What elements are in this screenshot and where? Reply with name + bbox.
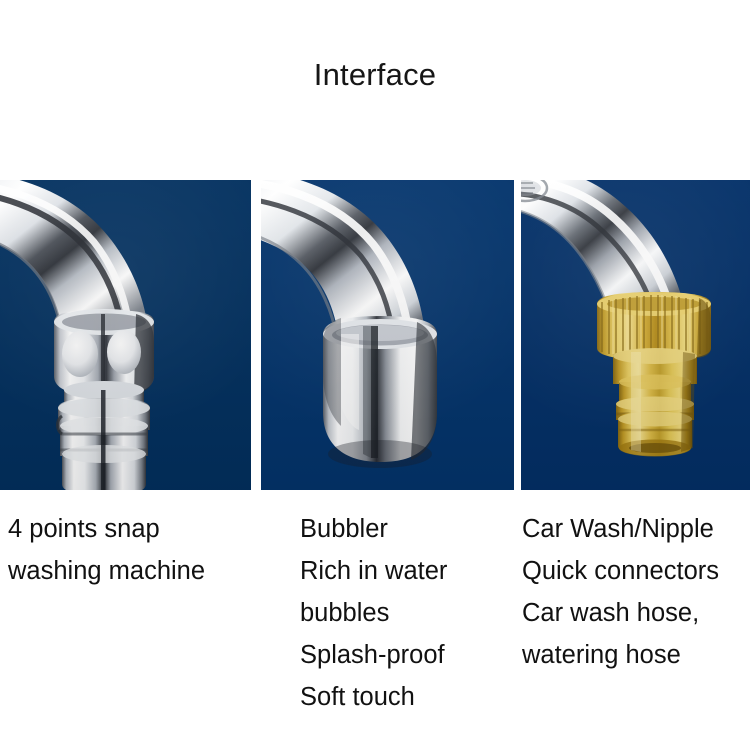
panel-3-caption: Car Wash/Nipple Quick connectors Car was… <box>522 508 719 676</box>
panel-3-image <box>521 180 750 490</box>
product-panel-3 <box>521 180 750 490</box>
product-panel-1 <box>0 180 251 490</box>
caption-line: watering hose <box>522 634 719 676</box>
caption-line: Car Wash/Nipple <box>522 508 719 550</box>
faucet-brass-quick-connector-icon <box>521 180 750 490</box>
caption-line: washing machine <box>8 550 205 592</box>
caption-line: Car wash hose, <box>522 592 719 634</box>
product-panel-2 <box>261 180 514 490</box>
panel-2-caption: Bubbler Rich in water bubbles Splash-pro… <box>300 508 447 718</box>
caption-line: Rich in water <box>300 550 447 592</box>
caption-line: 4 points snap <box>8 508 205 550</box>
panel-2-image <box>261 180 514 490</box>
panel-1-caption: 4 points snap washing machine <box>8 508 205 592</box>
caption-line: Bubbler <box>300 508 447 550</box>
faucet-snap-connector-icon <box>0 180 251 490</box>
panel-1-image <box>0 180 251 490</box>
page-title: Interface <box>0 56 750 94</box>
caption-line: Splash-proof <box>300 634 447 676</box>
product-infographic: Interface <box>0 0 750 750</box>
panel-row <box>0 180 750 490</box>
faucet-bubbler-aerator-icon <box>261 180 514 490</box>
caption-line: Quick connectors <box>522 550 719 592</box>
caption-line: bubbles <box>300 592 447 634</box>
caption-line: Soft touch <box>300 676 447 718</box>
